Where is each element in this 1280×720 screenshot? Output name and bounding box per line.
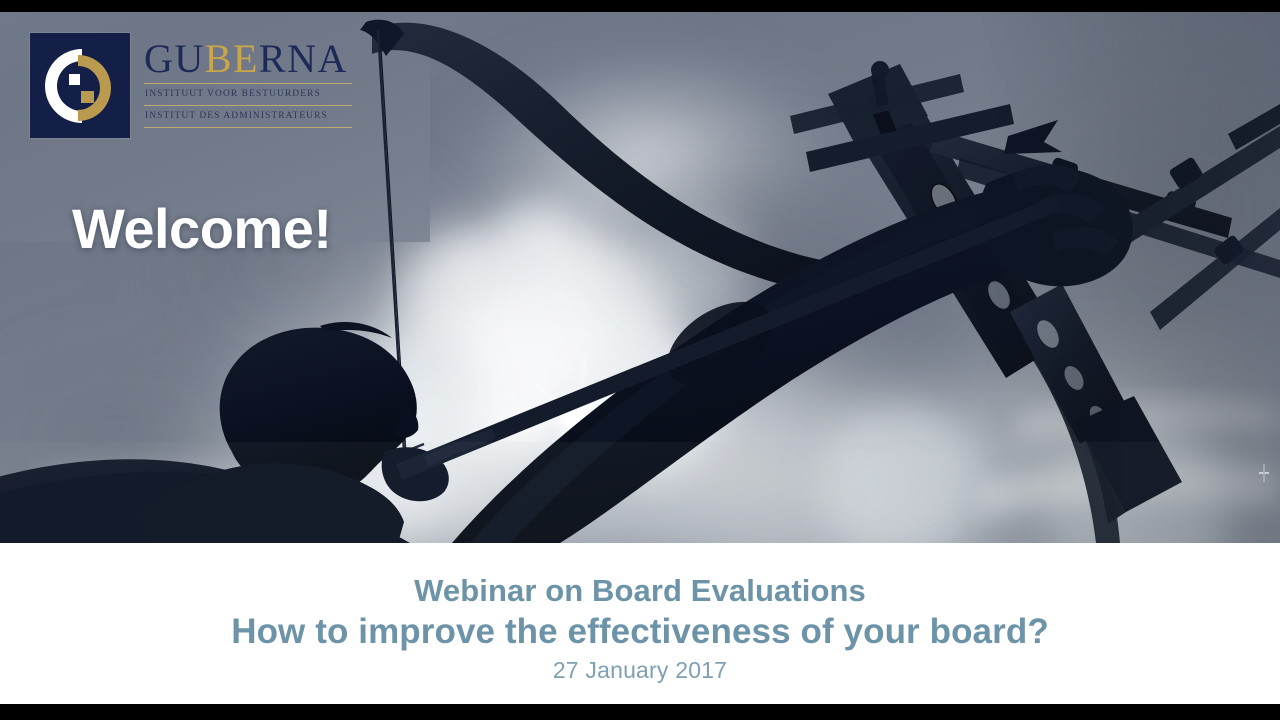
wordmark-part-be: BE: [205, 36, 259, 81]
slide-root: GUBERNA INSTITUUT VOOR BESTUURDERS INSTI…: [0, 0, 1280, 720]
guberna-logo[interactable]: GUBERNA INSTITUUT VOOR BESTUURDERS INSTI…: [30, 33, 360, 140]
logo-divider-mid: [144, 105, 352, 106]
guberna-wordmark: GUBERNA: [144, 37, 360, 81]
top-letterbox: [0, 0, 1280, 12]
webinar-date: 27 January 2017: [553, 655, 727, 685]
caption-bar: Webinar on Board Evaluations How to impr…: [0, 543, 1280, 704]
welcome-heading: Welcome!: [72, 198, 331, 260]
bottom-letterbox: [0, 704, 1280, 720]
wordmark-part-gu: GU: [144, 36, 205, 81]
guberna-crescent-mark-icon: [30, 33, 130, 138]
webinar-title: Webinar on Board Evaluations: [414, 571, 866, 610]
logo-subtitle-nl: INSTITUUT VOOR BESTUURDERS: [144, 87, 360, 103]
logo-subtitle-fr: INSTITUT DES ADMINISTRATEURS: [144, 109, 360, 125]
logo-divider-top: [144, 83, 352, 84]
logo-divider-bottom: [144, 127, 352, 128]
webinar-subtitle: How to improve the effectiveness of your…: [231, 610, 1049, 654]
text-cursor-icon: [1256, 462, 1272, 484]
wordmark-part-rna: RNA: [259, 36, 348, 81]
